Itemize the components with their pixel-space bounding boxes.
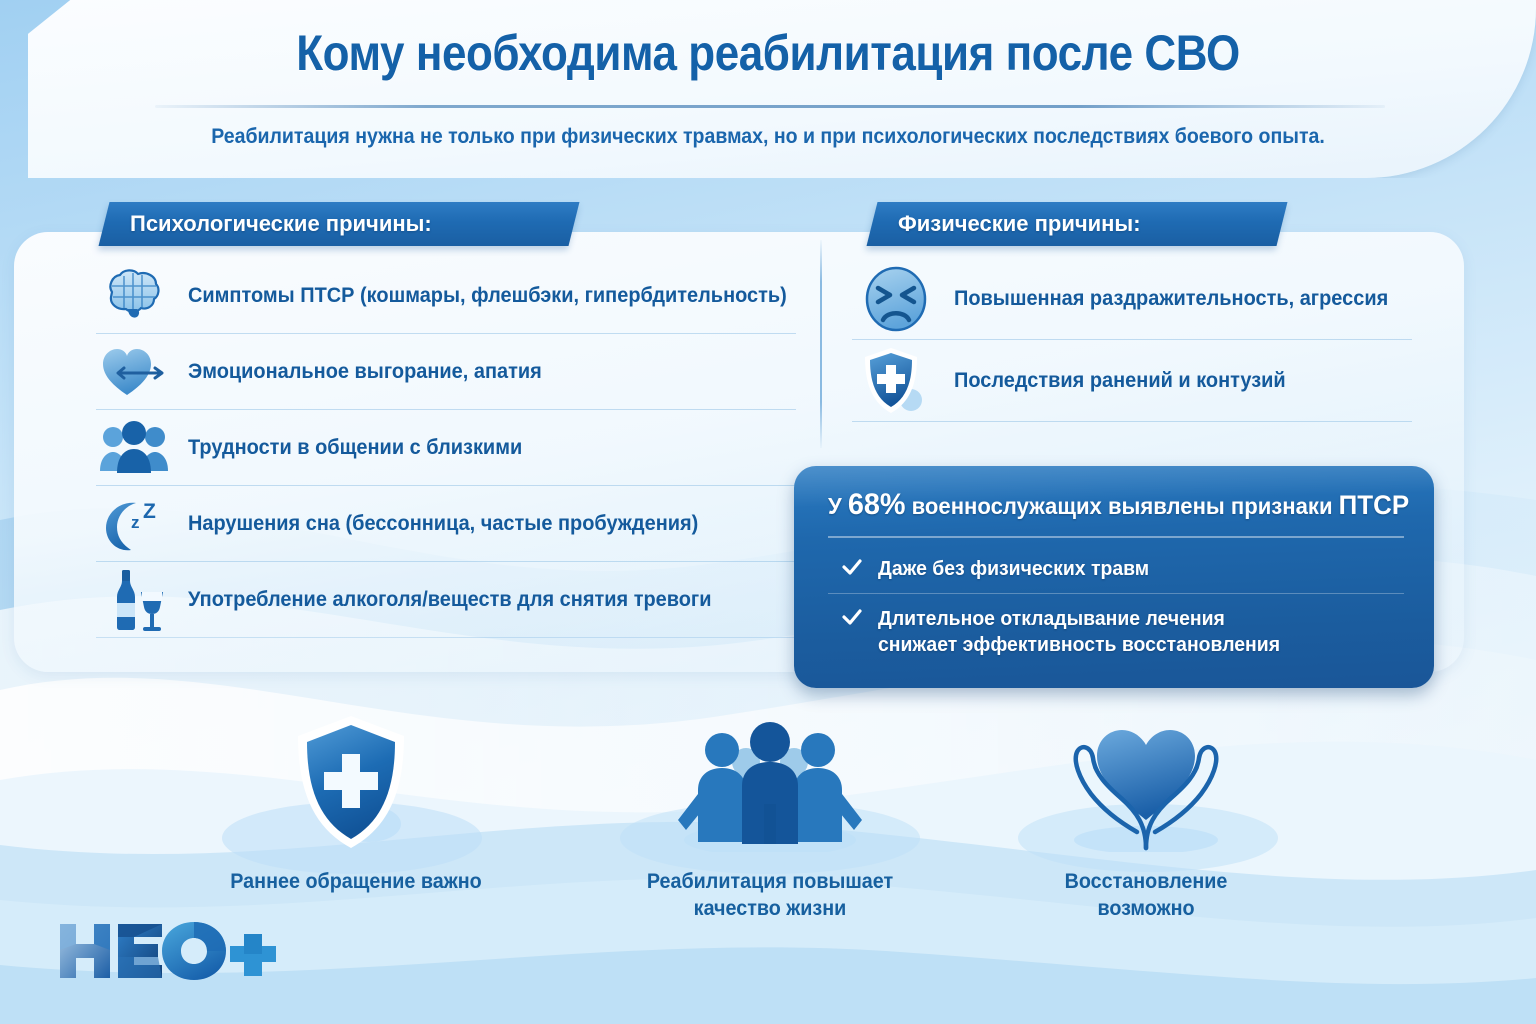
title-divider [155,105,1385,108]
list-item: Симптомы ПТСР (кошмары, флешбэки, гиперб… [96,258,796,334]
list-item-label: Последствия ранений и контузий [954,369,1286,393]
brand-logo: НЕО+ [58,920,278,982]
benefit-caption: Раннее обращение важно [215,868,497,895]
list-item-label: Нарушения сна (бессонница, частые пробуж… [188,512,698,536]
psychological-cause-list: Симптомы ПТСР (кошмары, флешбэки, гиперб… [96,258,796,638]
list-item: Длительное откладывание лечения снижает … [828,593,1404,669]
list-item: Даже без физических травм [828,544,1404,593]
svg-text:Z: Z [143,500,156,523]
statistic-divider [828,536,1404,538]
shield-cross-icon [206,712,506,852]
benefit-caption: Реабилитация повышает качество жизни [629,868,911,923]
stat-middle: военнослужащих выявлены признаки [906,493,1339,519]
benefit-item: Реабилитация повышает качество жизни [620,712,920,923]
banner-physical-label: Физические причины: [872,202,1282,246]
stat-value: 68% [848,488,906,521]
page-title: Кому необходима реабилитация после СВО [92,24,1444,82]
list-item: Последствия ранений и контузий [852,340,1412,422]
page-subtitle: Реабилитация нужна не только при физичес… [54,125,1482,149]
bottle-glass-icon [96,567,174,633]
physical-cause-list: Повышенная раздражительность, агрессия П… [852,258,1412,422]
benefit-item: Восстановление возможно [996,712,1296,923]
list-item: Трудности в общении с близкими [96,410,796,486]
list-item-label: Симптомы ПТСР (кошмары, флешбэки, гиперб… [188,284,787,308]
check-icon [842,559,862,582]
moon-sleep-icon: z Z [96,491,174,557]
column-divider [820,240,822,448]
banner-psychological-causes: Психологические причины: [99,202,580,246]
list-item: Эмоциональное выгорание, апатия [96,334,796,410]
list-item-label: Длительное откладывание лечения снижает … [878,606,1280,658]
benefit-caption: Восстановление возможно [1005,868,1287,923]
list-item-label: Употребление алкоголя/веществ для снятия… [188,588,712,612]
people-group-icon [620,712,920,852]
heart-in-hands-icon [996,712,1296,852]
list-item: z Z Нарушения сна (бессонница, частые пр… [96,486,796,562]
banner-physical-causes: Физические причины: [867,202,1288,246]
people-group-icon [96,415,174,481]
statistic-callout-box: У 68% военнослужащих выявлены признаки П… [794,466,1434,688]
brain-icon [96,263,174,329]
shield-cross-icon [852,348,940,414]
angry-face-icon [852,266,940,332]
list-item: Повышенная раздражительность, агрессия [852,258,1412,340]
statistic-headline: У 68% военнослужащих выявлены признаки П… [828,488,1381,522]
banner-psychological-label: Психологические причины: [104,202,574,246]
list-item: Употребление алкоголя/веществ для снятия… [96,562,796,638]
check-icon [842,609,862,632]
list-item-label: Даже без физических травм [878,556,1149,582]
infographic-poster: Кому необходима реабилитация после СВО Р… [0,0,1536,1024]
list-item-label: Эмоциональное выгорание, апатия [188,360,542,384]
list-item-label: Трудности в общении с близкими [188,436,522,460]
stat-prefix: У [828,493,848,519]
list-item-label: Повышенная раздражительность, агрессия [954,287,1388,311]
heart-burnout-icon [96,339,174,405]
stat-suffix: ПТСР [1339,490,1409,520]
benefit-item: Раннее обращение важно [206,712,506,895]
svg-text:z: z [131,513,140,532]
